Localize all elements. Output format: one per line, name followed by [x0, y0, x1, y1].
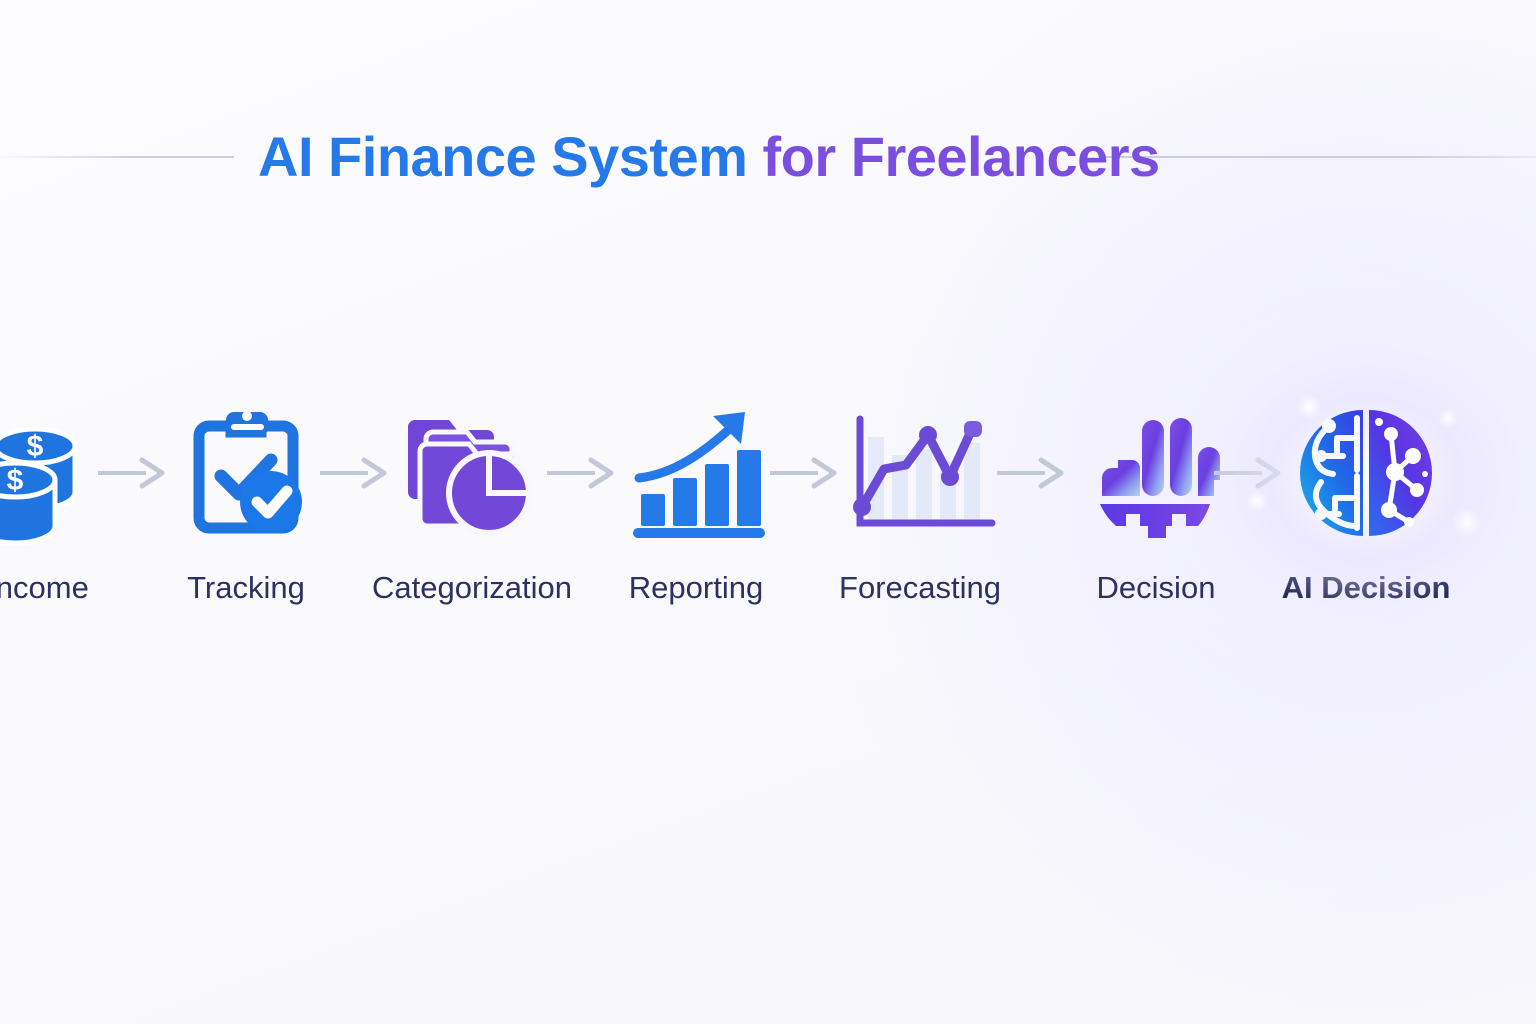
page-title: AI Finance System for Freelancers	[258, 118, 1160, 196]
stage-reporting[interactable]: Reporting	[596, 398, 796, 638]
page-title-secondary: for Freelancers	[763, 125, 1160, 188]
infographic-canvas: AI Finance System for Freelancers $ $	[0, 0, 1536, 1024]
folders-pie-icon	[372, 398, 572, 548]
stage-label: AI Decision	[1266, 570, 1466, 606]
svg-text:$: $	[27, 430, 44, 463]
clipboard-check-icon	[146, 398, 346, 548]
stage-label: Reporting	[596, 570, 796, 606]
line-chart-icon	[820, 398, 1020, 548]
stage-label: Decision	[1056, 570, 1256, 606]
header-rule-left	[0, 156, 234, 158]
process-pipeline: $ $ Income T	[0, 398, 1536, 638]
header: AI Finance System for Freelancers	[0, 118, 1536, 198]
ai-brain-icon	[1266, 398, 1466, 548]
stage-ai-decision[interactable]: AI Decision	[1266, 398, 1466, 638]
page-title-primary: AI Finance System	[258, 125, 747, 188]
stage-tracking[interactable]: Tracking	[146, 398, 346, 638]
stage-forecasting[interactable]: Forecasting	[820, 398, 1020, 638]
stage-income[interactable]: $ $ Income	[0, 398, 138, 638]
stage-decision[interactable]: Decision	[1056, 398, 1256, 638]
stage-label: Tracking	[146, 570, 346, 606]
stage-label: Forecasting	[820, 570, 1020, 606]
header-rule-right	[1104, 156, 1536, 158]
glow-spark	[1246, 490, 1268, 512]
stage-label: Income	[0, 570, 138, 606]
stage-categorization[interactable]: Categorization	[372, 398, 572, 638]
svg-text:$: $	[7, 464, 24, 497]
bar-chart-arrow-up-icon	[596, 398, 796, 548]
stage-label: Categorization	[372, 570, 572, 606]
